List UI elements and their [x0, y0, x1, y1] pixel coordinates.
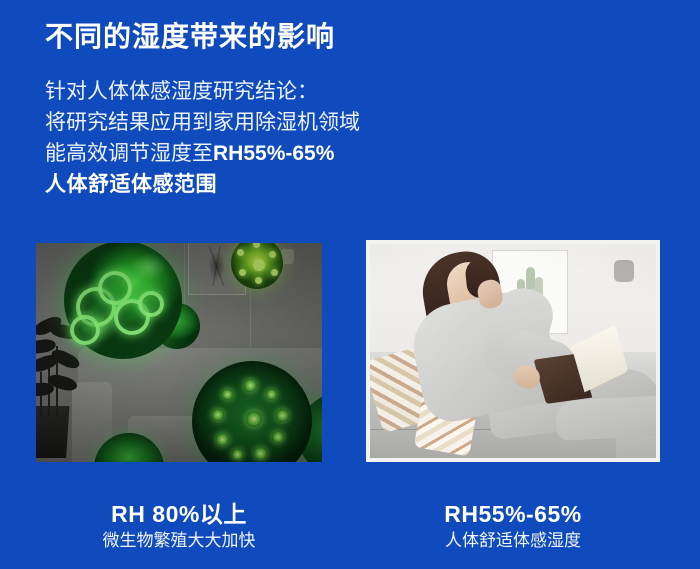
- body-line-4: 人体舒适体感范围: [45, 169, 360, 200]
- caption-right: RH55%-65% 人体舒适体感湿度: [366, 500, 660, 554]
- body-line-3-prefix: 能高效调节湿度至: [45, 142, 213, 165]
- body-line-3-highlight: RH55%-65%: [213, 142, 334, 165]
- photo-right-comfort: [366, 240, 660, 462]
- dim-living-room-scene: [36, 243, 322, 462]
- caption-left: RH 80%以上 微生物繁殖大大加快: [36, 500, 322, 554]
- photo-left-germs: [36, 243, 322, 462]
- scene-vignette: [370, 244, 656, 458]
- caption-right-subtitle: 人体舒适体感湿度: [366, 528, 660, 554]
- bright-living-room-scene: [370, 244, 656, 458]
- body-line-1: 针对人体体感湿度研究结论：: [45, 76, 360, 107]
- humidity-infographic: 不同的湿度带来的影响 针对人体体感湿度研究结论： 将研究结果应用到家用除湿机领域…: [0, 0, 700, 569]
- caption-left-subtitle: 微生物繁殖大大加快: [36, 528, 322, 554]
- caption-right-title: RH55%-65%: [366, 500, 660, 528]
- body-line-2: 将研究结果应用到家用除湿机领域: [45, 107, 360, 138]
- caption-left-title: RH 80%以上: [36, 500, 322, 528]
- scene-vignette: [36, 243, 322, 462]
- body-line-3: 能高效调节湿度至RH55%-65%: [45, 138, 360, 169]
- page-title: 不同的湿度带来的影响: [45, 18, 335, 56]
- body-copy: 针对人体体感湿度研究结论： 将研究结果应用到家用除湿机领域 能高效调节湿度至RH…: [45, 76, 360, 200]
